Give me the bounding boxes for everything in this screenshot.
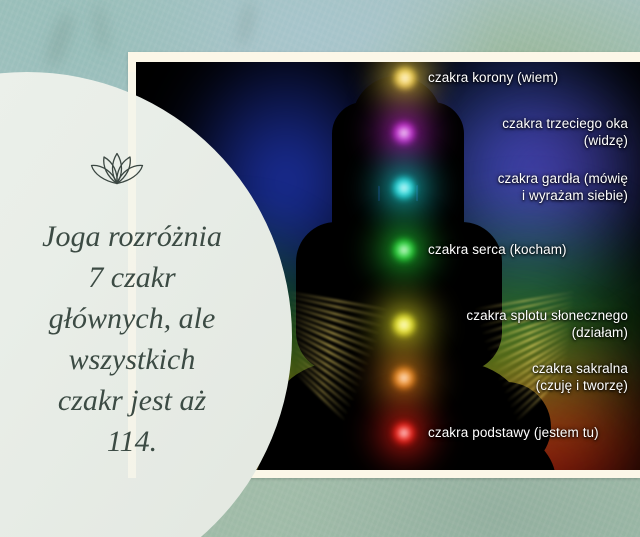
chakra-label-crown: czakra korony (wiem)	[428, 69, 558, 86]
chakra-orb-root	[391, 420, 417, 446]
chakra-orb-core	[391, 175, 417, 201]
chakra-label-root: czakra podstawy (jestem tu)	[428, 424, 599, 441]
chakra-orb-throat	[391, 175, 417, 201]
chakra-label-sacral: czakra sakralna (czuję i tworzę)	[532, 360, 628, 394]
chakra-orb-core	[391, 420, 417, 446]
chakra-infographic-poster: czakra korony (wiem)czakra trzeciego oka…	[0, 0, 640, 537]
chakra-orb-core	[391, 237, 417, 263]
chakra-label-heart: czakra serca (kocham)	[428, 241, 567, 258]
chakra-label-solar-plexus: czakra splotu słonecznego (działam)	[466, 307, 628, 341]
chakra-label-throat: czakra gardła (mówię i wyrażam siebie)	[498, 170, 628, 204]
chakra-orb-heart	[391, 237, 417, 263]
chakra-label-third-eye: czakra trzeciego oka (widzę)	[502, 115, 628, 149]
lotus-icon	[88, 138, 146, 186]
quote-text: Joga rozróżnia 7 czakr głównych, ale wsz…	[6, 216, 258, 462]
